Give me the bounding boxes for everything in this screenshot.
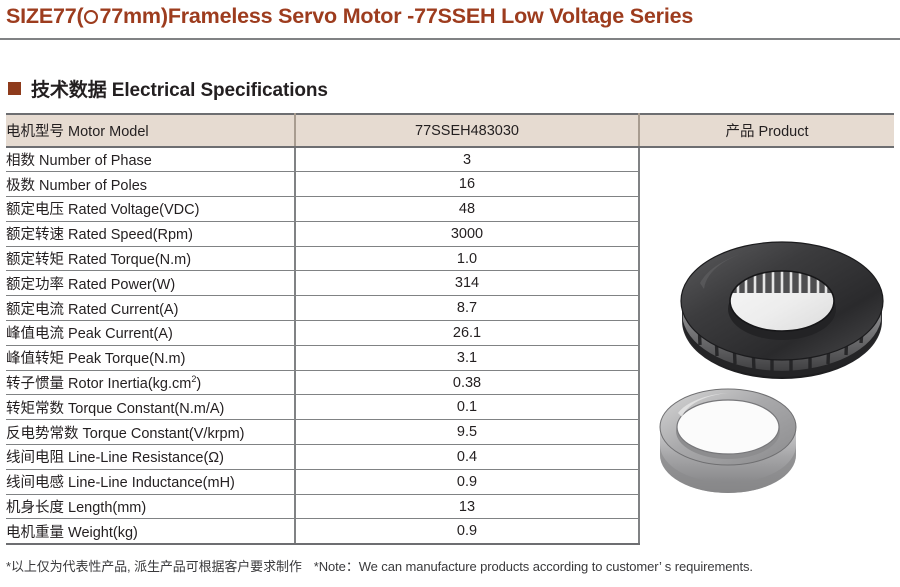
spec-name-cell: 额定功率 Rated Power(W) bbox=[6, 271, 295, 296]
spec-name-cell: 电机重量 Weight(kg) bbox=[6, 519, 295, 544]
spec-value-cell: 3 bbox=[295, 147, 639, 172]
spec-value-cell: 3.1 bbox=[295, 345, 639, 370]
page-title-paren-open: ( bbox=[77, 4, 84, 28]
spec-value-cell: 8.7 bbox=[295, 296, 639, 321]
spec-value-cell: 0.9 bbox=[295, 469, 639, 494]
spec-name-cell: 极数 Number of Poles bbox=[6, 172, 295, 197]
header-product: 产品 Product bbox=[639, 114, 894, 147]
footnote-chinese: *以上仅为代表性产品, 派生产品可根据客户要求制作 bbox=[6, 559, 302, 574]
spec-name-cell: 额定电流 Rated Current(A) bbox=[6, 296, 295, 321]
header-motor-model: 电机型号 Motor Model bbox=[6, 114, 295, 147]
header-model-number: 77SSEH483030 bbox=[295, 114, 639, 147]
spec-value-cell: 9.5 bbox=[295, 420, 639, 445]
page-title-diameter: 77mm bbox=[99, 4, 160, 28]
spec-value-cell: 0.9 bbox=[295, 519, 639, 544]
spec-value-cell: 48 bbox=[295, 197, 639, 222]
page-title: SIZE77(77mm)Frameless Servo Motor -77SSE… bbox=[6, 4, 693, 29]
spec-name-cell: 额定转矩 Rated Torque(N.m) bbox=[6, 246, 295, 271]
spec-name-cell: 转矩常数 Torque Constant(N.m/A) bbox=[6, 395, 295, 420]
title-divider bbox=[0, 38, 900, 40]
spec-value-cell: 13 bbox=[295, 494, 639, 519]
spec-name-cell: 峰值电流 Peak Current(A) bbox=[6, 321, 295, 346]
spec-name-cell: 线间电阻 Line-Line Resistance(Ω) bbox=[6, 445, 295, 470]
spec-name-cell: 额定转速 Rated Speed(Rpm) bbox=[6, 221, 295, 246]
spec-name-cell: 峰值转矩 Peak Torque(N.m) bbox=[6, 345, 295, 370]
spec-name-cell: 线间电感 Line-Line Inductance(mH) bbox=[6, 469, 295, 494]
electrical-specifications-table: 电机型号 Motor Model 77SSEH483030 产品 Product… bbox=[6, 113, 894, 545]
spec-name-cell: 机身长度 Length(mm) bbox=[6, 494, 295, 519]
footnote-english: *Note：We can manufacture products accord… bbox=[314, 559, 753, 574]
table-header-row: 电机型号 Motor Model 77SSEH483030 产品 Product bbox=[6, 114, 894, 147]
circle-icon bbox=[84, 10, 98, 24]
spec-value-cell: 26.1 bbox=[295, 321, 639, 346]
spec-name-cell: 反电势常数 Torque Constant(V/krpm) bbox=[6, 420, 295, 445]
spec-value-cell: 0.38 bbox=[295, 370, 639, 395]
section-heading-label: 技术数据 Electrical Specifications bbox=[31, 75, 328, 102]
footnote: *以上仅为代表性产品, 派生产品可根据客户要求制作*Note：We can ma… bbox=[6, 556, 753, 575]
spec-value-cell: 314 bbox=[295, 271, 639, 296]
spec-name-tail: ) bbox=[196, 376, 201, 392]
square-bullet-icon bbox=[8, 82, 21, 95]
spec-value-cell: 1.0 bbox=[295, 246, 639, 271]
page-title-rest: Frameless Servo Motor -77SSEH Low Voltag… bbox=[168, 4, 693, 28]
spec-value-cell: 3000 bbox=[295, 221, 639, 246]
spec-value-cell: 0.1 bbox=[295, 395, 639, 420]
spec-name-cell: 转子惯量 Rotor Inertia(kg.cm2) bbox=[6, 370, 295, 395]
page-title-prefix: SIZE77 bbox=[6, 4, 77, 28]
spec-name-cell: 相数 Number of Phase bbox=[6, 147, 295, 172]
spec-value-cell: 0.4 bbox=[295, 445, 639, 470]
spec-name-cell: 额定电压 Rated Voltage(VDC) bbox=[6, 197, 295, 222]
spec-value-cell: 16 bbox=[295, 172, 639, 197]
table-row: 相数 Number of Phase3 bbox=[6, 147, 894, 172]
section-heading: 技术数据 Electrical Specifications bbox=[8, 75, 328, 102]
page-title-paren-close: ) bbox=[161, 4, 168, 28]
product-image-cell bbox=[639, 147, 894, 544]
spec-name-lead: 转子惯量 Rotor Inertia(kg.cm bbox=[6, 376, 191, 392]
